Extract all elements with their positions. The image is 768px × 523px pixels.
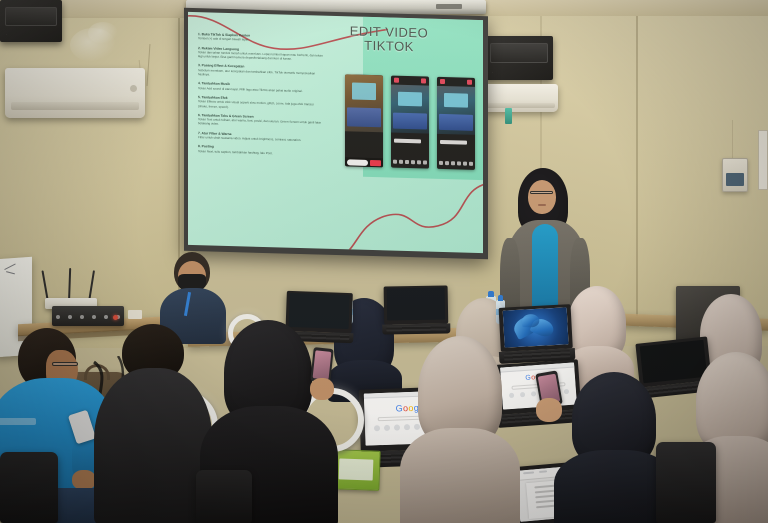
google-shortcut-tile[interactable]: [374, 425, 380, 431]
phone-close-icon: [467, 80, 472, 85]
phone-mini-screen: [444, 93, 468, 108]
speaker-brand-left: ·: [6, 32, 7, 36]
wall-notice-card: [758, 130, 768, 190]
classroom-photo-scene: · ·: [0, 0, 768, 523]
green-product-box[interactable]: [331, 449, 380, 491]
mixer-knob[interactable]: [56, 315, 60, 319]
phone-timeline-tools: [437, 138, 475, 157]
presenter-mouth: [538, 204, 546, 206]
phone-tool-icon: [393, 160, 397, 164]
bottle-cap: [498, 295, 503, 301]
presenter-glasses: [530, 191, 553, 194]
speaker-right: ·: [485, 36, 553, 80]
speaker-left: ·: [0, 0, 62, 42]
laptop-dark-midleft[interactable]: [384, 285, 449, 334]
laptop-base: [382, 323, 450, 334]
phone-close-icon: [421, 78, 426, 83]
shortcut-icon: [384, 425, 390, 431]
mixer-knob-row[interactable]: [56, 314, 121, 319]
mixer-knob[interactable]: [92, 315, 96, 319]
slide-item: 4. Tambahkan Musik Tekan Add sound di at…: [198, 81, 323, 93]
google-shortcut-tile[interactable]: [384, 425, 390, 431]
phone-audience: [439, 114, 472, 131]
slide-item: 7. Atur Filter & Warna Filter untuk ubah…: [198, 131, 323, 143]
participant-glasses: [52, 362, 78, 366]
office-chair[interactable]: [196, 470, 252, 523]
phone-editor-preview: [437, 86, 475, 135]
wall-stain-b: [88, 22, 118, 44]
participant-grey-hijab-front: [404, 336, 516, 523]
phone-record-button: [370, 159, 381, 165]
google-shortcut-tile[interactable]: [394, 424, 400, 430]
speaker-grille-right: [490, 43, 547, 63]
phone-back-icon: [440, 79, 445, 84]
phone-editor-preview: [391, 85, 429, 134]
google-shortcut-tile[interactable]: [520, 392, 525, 397]
projector-screen-assembly: EDIT VIDEO TIKTOK 1. Buka TikTok & Siapk…: [180, 0, 485, 255]
phone-audience: [347, 107, 380, 127]
ac-unit-left: [5, 68, 145, 118]
thermostat-panel[interactable]: [722, 158, 748, 192]
laptop-lid: [384, 285, 449, 324]
presentation-slide: EDIT VIDEO TIKTOK 1. Buka TikTok & Siapk…: [188, 12, 483, 253]
roller-brand-label: [436, 4, 462, 9]
ac-vent-left: [11, 102, 140, 110]
slide-wave-bottom: [318, 171, 483, 254]
mixer-knob[interactable]: [104, 315, 108, 319]
participant-black-hijab: [98, 324, 208, 523]
bottle-cap: [488, 291, 494, 297]
whiteboard-marking: [6, 271, 15, 274]
participant-hand: [536, 398, 562, 422]
participant-hand: [72, 470, 96, 490]
phone-tool-icon: [457, 161, 461, 165]
phone-mini-screen: [398, 91, 422, 106]
phone-timeline-tools: [391, 136, 429, 155]
toolbar-control[interactable]: [523, 472, 534, 475]
shortcut-icon: [374, 425, 380, 431]
phone-tool-icon: [469, 162, 473, 166]
phone-clip-track: [440, 139, 467, 145]
thermostat-display: [726, 173, 744, 186]
phone-toolbar-icons: [439, 161, 474, 168]
phone-audience: [393, 112, 426, 129]
phone-record-bar: [345, 157, 383, 167]
equipment-white-box: [128, 310, 142, 319]
ac-vent-right: [486, 103, 555, 107]
phone-screenshot: [391, 76, 429, 169]
phone-tool-icon: [439, 161, 443, 165]
office-chair[interactable]: [0, 452, 58, 523]
phone-mini-screen: [352, 82, 376, 100]
phone-tool-icon: [405, 160, 409, 164]
google-shortcut-tile[interactable]: [531, 391, 536, 396]
slide-item: 1. Buka TikTok & Siapkan Konten Tombol (…: [198, 32, 323, 44]
slide-title-line2: TIKTOK: [314, 37, 464, 55]
slide-item: 6. Tambahkan Teks & Green Screen Tekan T…: [198, 113, 323, 129]
speaker-brand-right: ·: [492, 70, 493, 74]
box-label-window: [339, 459, 373, 481]
slide-body-text: 1. Buka TikTok & Siapkan Konten Tombol (…: [198, 32, 323, 161]
phone-tool-icon: [417, 160, 421, 164]
phone-tool-icon: [399, 160, 403, 164]
whiteboard-marking: [4, 264, 15, 271]
participant-shoulders: [400, 428, 520, 523]
audio-mixer: [52, 306, 124, 326]
slide-item: 2. Rekam Video Langsung Tekan dan tahan …: [198, 46, 323, 62]
presenter-face: [528, 180, 556, 214]
shortcut-icon: [531, 391, 536, 396]
phone-screenshot: [345, 74, 383, 167]
phone-screen[interactable]: [312, 350, 332, 380]
shortcut-icon: [394, 424, 400, 430]
participant-hand: [310, 378, 334, 400]
shortcut-icon: [520, 392, 525, 397]
mixer-knob[interactable]: [68, 315, 72, 319]
phone-tool-icon: [463, 162, 467, 166]
phone-screenshot: [437, 77, 475, 170]
mixer-knob[interactable]: [80, 315, 84, 319]
ac-indicator-left: [130, 85, 137, 92]
laptop-screen[interactable]: [387, 288, 445, 321]
slide-item: 5. Tambahkan Efek Tekan Effects untuk ef…: [198, 95, 323, 111]
speaker-grille-left: [5, 7, 57, 26]
toolbar-control[interactable]: [539, 470, 548, 472]
phone-back-icon: [394, 78, 399, 83]
slide-item: 8. Posting Tekan Next, tulis caption, ta…: [198, 144, 323, 156]
phone-tool-icon: [445, 161, 449, 165]
slide-item: 3. Pasang Effect & Kecepatan Sebelum mer…: [198, 64, 323, 80]
phone-tool-icon: [423, 160, 427, 164]
participant-shoulders: [94, 368, 212, 523]
ac-unit-right: [483, 84, 558, 112]
phone-camera-preview: [345, 74, 383, 132]
office-chair[interactable]: [656, 442, 716, 523]
laptop-keyboard[interactable]: [386, 325, 446, 331]
phone-effects-pill: [347, 159, 368, 166]
win11-petal: [522, 314, 539, 328]
slide-title: EDIT VIDEO TIKTOK: [314, 23, 464, 54]
phone-toolbar-icons: [393, 160, 428, 167]
wall-seam-right: [636, 16, 638, 316]
phone-clip-track: [394, 138, 421, 144]
slide-phone-screenshots: [345, 74, 475, 173]
phone-tool-icon: [411, 160, 415, 164]
phone-tool-icon: [451, 161, 455, 165]
ac-dangling-tag: [505, 108, 512, 124]
shirt-logo-text: [0, 418, 36, 425]
